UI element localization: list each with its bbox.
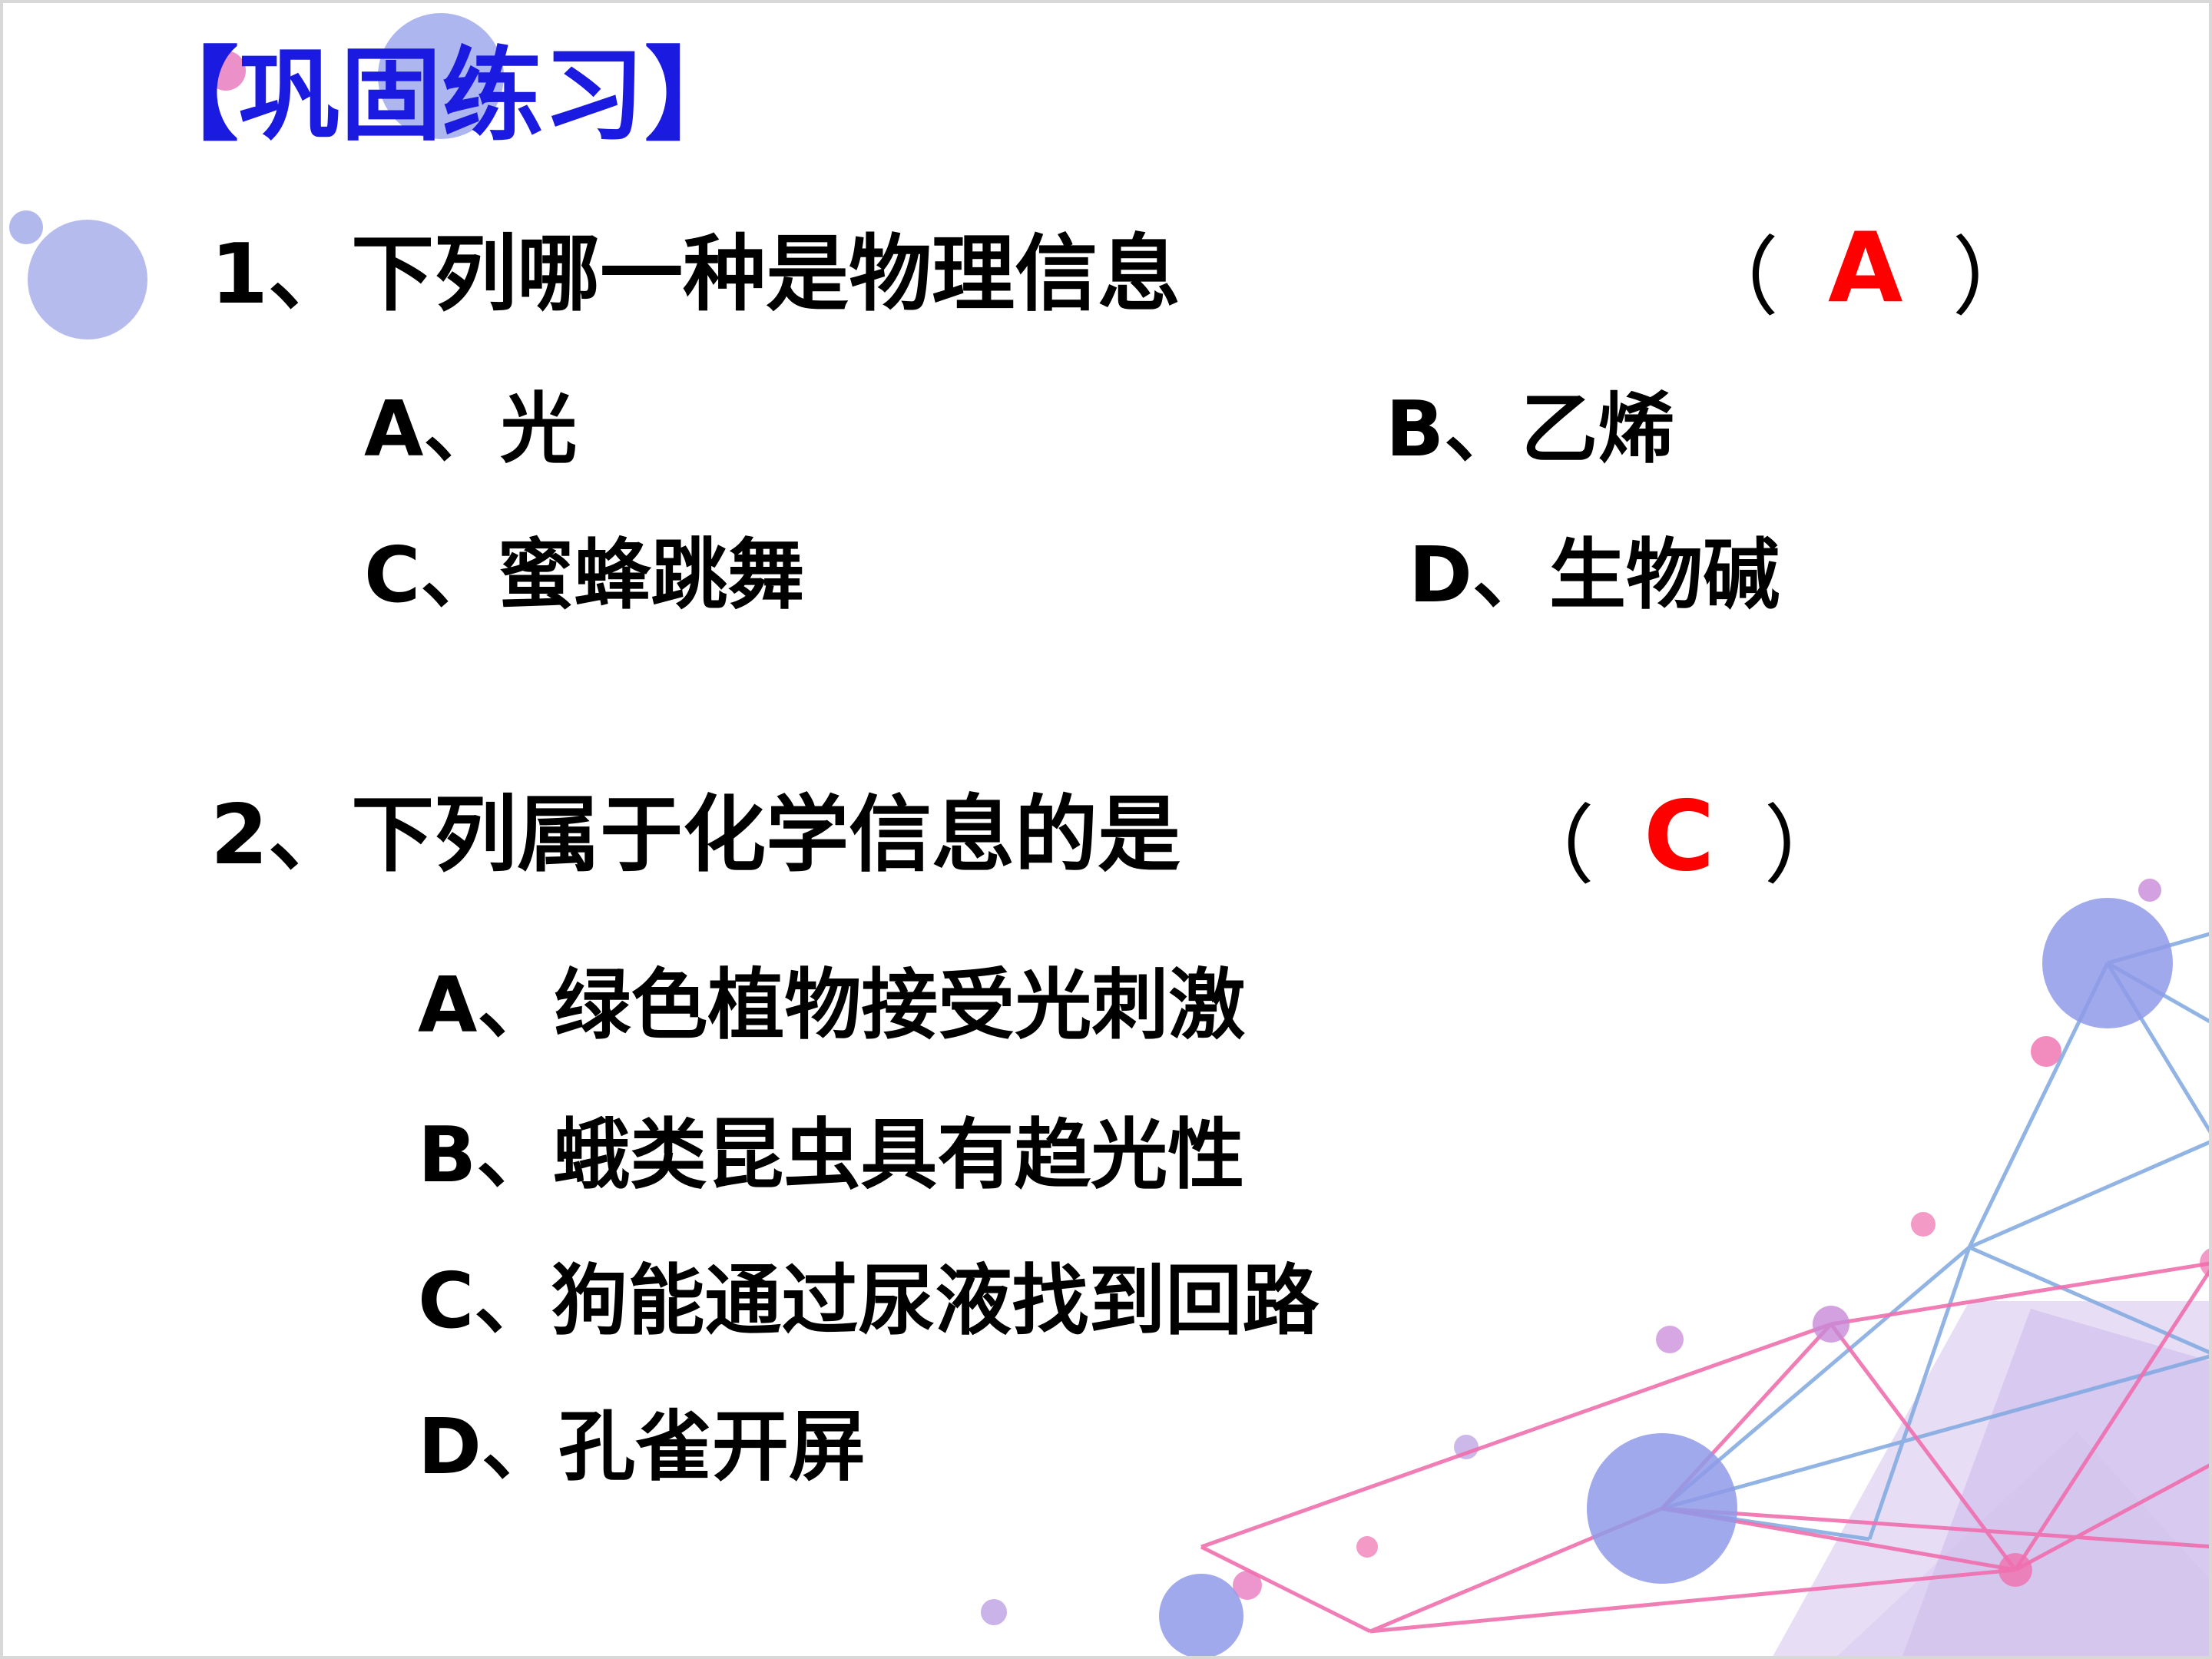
question-1-option-c: C、蜜蜂跳舞 bbox=[364, 537, 804, 614]
question-1-answer-group: （ A ） bbox=[1693, 226, 2038, 323]
question-1-paren-open: （ bbox=[1693, 235, 1779, 321]
question-1-stem: 1、下列哪一种是物理信息 bbox=[210, 233, 1181, 316]
slide-canvas: 【巩固练习】 1、下列哪一种是物理信息 （ A ） A、光 B、乙烯 C、蜜蜂跳… bbox=[0, 0, 2212, 1659]
question-1-answer-letter: A bbox=[1779, 220, 1952, 316]
question-2-stem: 2、下列属于化学信息的是 bbox=[210, 794, 1181, 877]
slide-content: 【巩固练习】 1、下列哪一种是物理信息 （ A ） A、光 B、乙烯 C、蜜蜂跳… bbox=[3, 3, 2212, 1659]
page-title: 【巩固练习】 bbox=[137, 45, 746, 147]
question-2-option-a: A、绿色植物接受光刺激 bbox=[418, 967, 1245, 1044]
question-1-option-d: D、生物碱 bbox=[1409, 537, 1780, 614]
question-2-paren-open: （ bbox=[1508, 803, 1594, 889]
question-1-option-b: B、乙烯 bbox=[1386, 391, 1674, 468]
question-2-answer-letter: C bbox=[1594, 788, 1763, 885]
question-2-answer-group: （ C ） bbox=[1508, 794, 1849, 891]
question-2-paren-close: ） bbox=[1763, 803, 1849, 889]
question-2-option-b: B、蛾类昆虫具有趋光性 bbox=[418, 1117, 1244, 1194]
question-2-option-d: D、孔雀开屏 bbox=[418, 1409, 866, 1485]
question-2-option-c: C、狗能通过尿液找到回路 bbox=[418, 1263, 1319, 1339]
question-1-paren-close: ） bbox=[1952, 235, 2038, 321]
question-1-option-a: A、光 bbox=[364, 391, 577, 468]
